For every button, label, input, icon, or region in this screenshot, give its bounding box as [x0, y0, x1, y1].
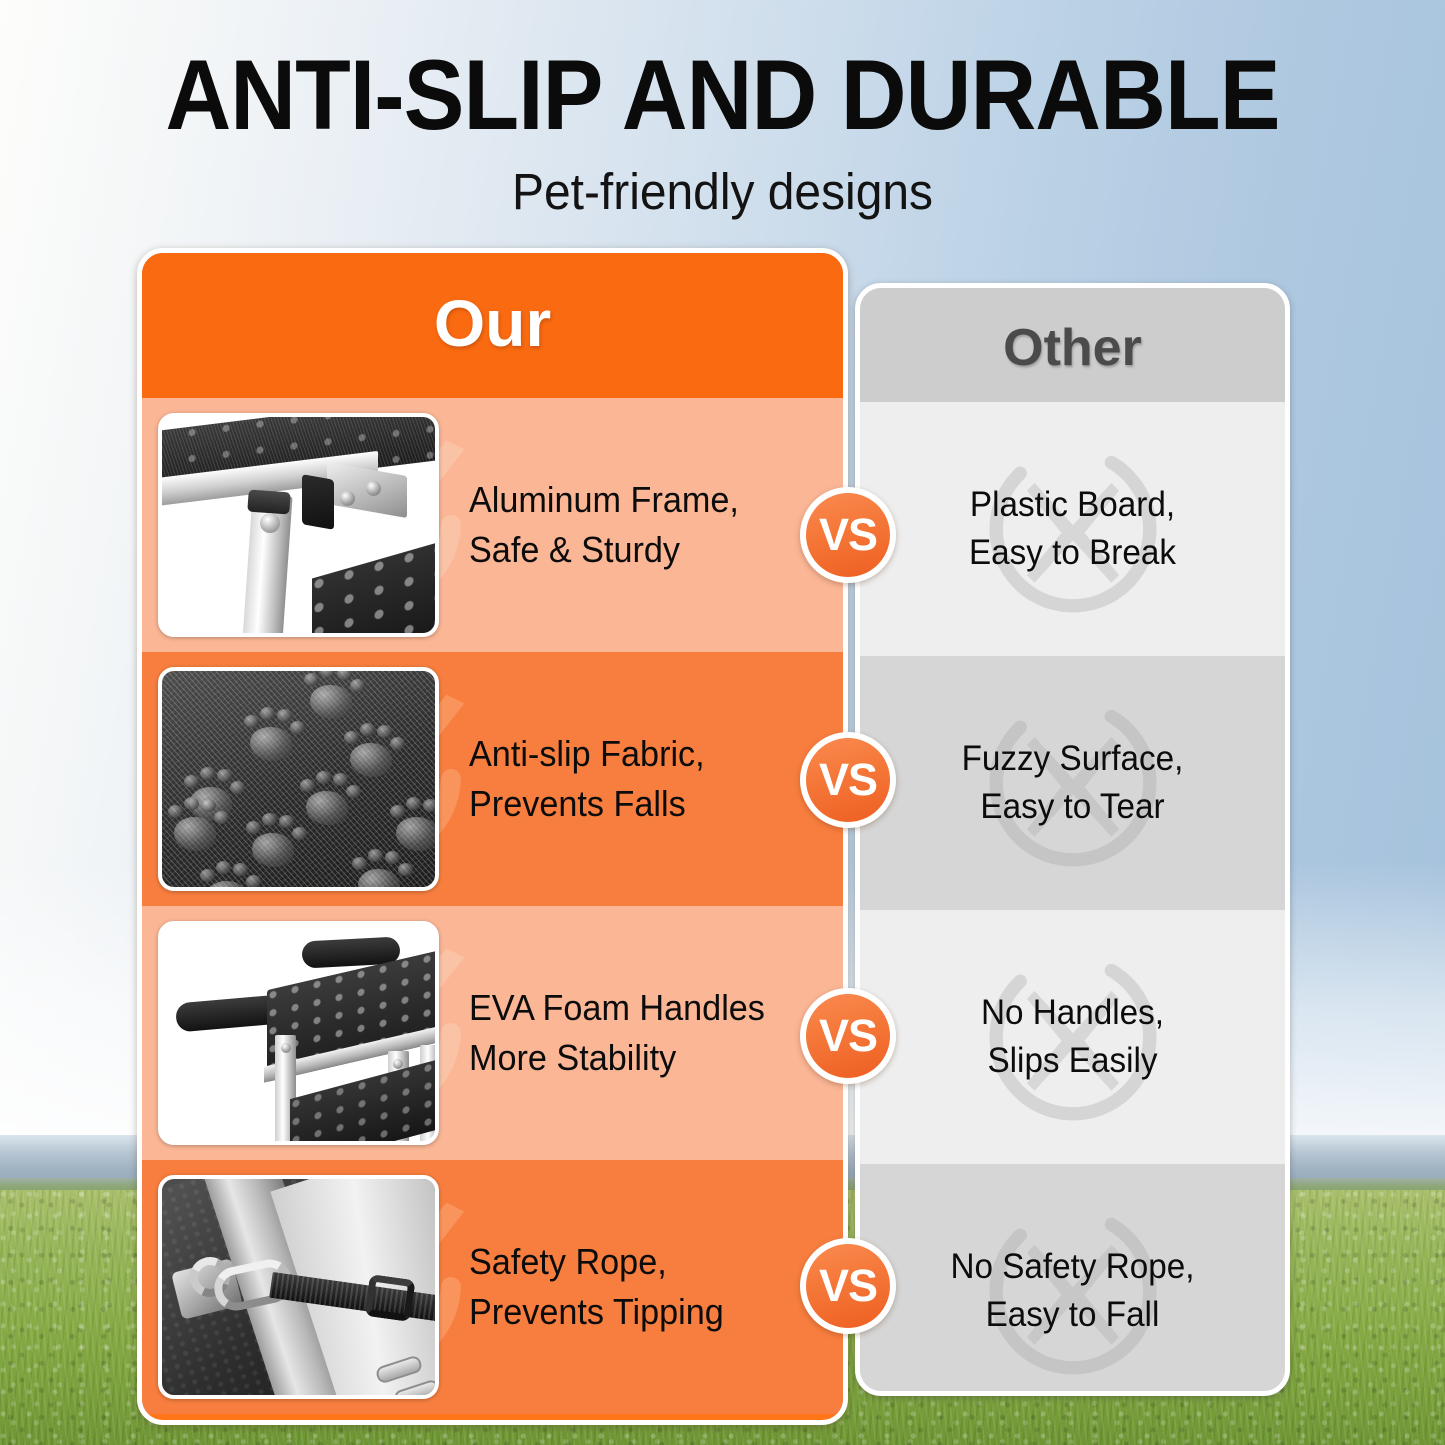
- our-text-line1: Anti-slip Fabric,: [469, 729, 705, 779]
- other-text-line1: Plastic Board,: [970, 481, 1175, 529]
- vs-badge: VS: [800, 988, 896, 1084]
- product-photo-thumbnail: [158, 1175, 439, 1399]
- our-row: Aluminum Frame, Safe & Sturdy: [142, 398, 843, 652]
- anti-slip-fabric-photo: [162, 671, 435, 887]
- our-row: EVA Foam Handles More Stability: [142, 906, 843, 1160]
- our-header-label: Our: [142, 285, 843, 361]
- other-text-line2: Slips Easily: [987, 1037, 1157, 1085]
- other-row-text: No Handles, Slips Easily: [871, 910, 1275, 1164]
- product-photo-thumbnail: [158, 667, 439, 891]
- our-row-text: Aluminum Frame, Safe & Sturdy: [469, 475, 739, 574]
- other-rows: Plastic Board, Easy to Break Fuzzy Surfa…: [860, 402, 1285, 1396]
- our-header: Our: [142, 253, 843, 398]
- other-row: Plastic Board, Easy to Break: [860, 402, 1285, 656]
- other-row-text: Fuzzy Surface, Easy to Tear: [871, 656, 1275, 910]
- our-text-line1: EVA Foam Handles: [469, 983, 765, 1033]
- other-row-text: Plastic Board, Easy to Break: [871, 402, 1275, 656]
- other-text-line2: Easy to Break: [969, 529, 1176, 577]
- our-text-line1: Safety Rope,: [469, 1237, 724, 1287]
- vs-badge: VS: [800, 732, 896, 828]
- other-row-text: No Safety Rope, Easy to Fall: [871, 1164, 1275, 1396]
- our-text-line2: More Stability: [469, 1033, 765, 1083]
- vs-badge: VS: [800, 1238, 896, 1334]
- our-row: Safety Rope, Prevents Tipping: [142, 1160, 843, 1414]
- other-header-label: Other: [860, 318, 1285, 378]
- our-row-text: EVA Foam Handles More Stability: [469, 983, 765, 1082]
- product-photo-thumbnail: [158, 413, 439, 637]
- safety-rope-carabiner-photo: [162, 1179, 435, 1395]
- other-text-line1: Fuzzy Surface,: [962, 735, 1184, 783]
- other-text-line2: Easy to Tear: [980, 783, 1164, 831]
- other-row: Fuzzy Surface, Easy to Tear: [860, 656, 1285, 910]
- vs-badge: VS: [800, 487, 896, 583]
- product-photo-thumbnail: [158, 921, 439, 1145]
- our-row: Anti-slip Fabric, Prevents Falls: [142, 652, 843, 906]
- our-rows: Aluminum Frame, Safe & Sturdy: [142, 398, 843, 1414]
- our-text-line2: Safe & Sturdy: [469, 525, 739, 575]
- our-text-line2: Prevents Falls: [469, 779, 705, 829]
- other-row: No Handles, Slips Easily: [860, 910, 1285, 1164]
- our-panel: Our Aluminu: [137, 248, 848, 1425]
- our-text-line1: Aluminum Frame,: [469, 475, 739, 525]
- other-header: Other: [860, 288, 1285, 402]
- eva-foam-handles-photo: [162, 925, 435, 1141]
- aluminum-frame-corner-photo: [162, 417, 435, 633]
- our-row-text: Anti-slip Fabric, Prevents Falls: [469, 729, 705, 828]
- our-text-line2: Prevents Tipping: [469, 1287, 724, 1337]
- other-row: No Safety Rope, Easy to Fall: [860, 1164, 1285, 1396]
- other-text-line2: Easy to Fall: [986, 1291, 1160, 1339]
- other-text-line1: No Handles,: [981, 989, 1164, 1037]
- comparison-table: Other Plastic Board, Easy to Break: [0, 0, 1445, 1445]
- other-panel: Other Plastic Board, Easy to Break: [855, 283, 1290, 1396]
- our-row-text: Safety Rope, Prevents Tipping: [469, 1237, 724, 1336]
- other-text-line1: No Safety Rope,: [951, 1243, 1195, 1291]
